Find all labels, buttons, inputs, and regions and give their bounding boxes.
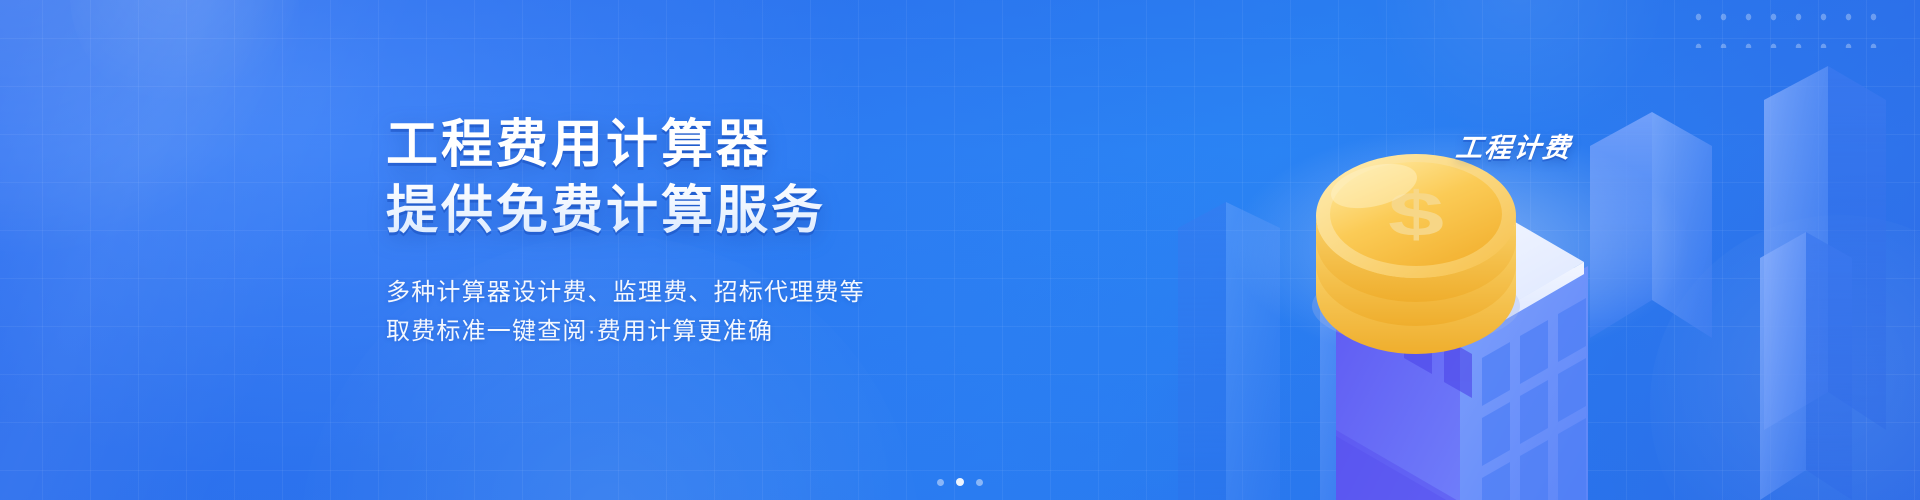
headline-line-2: 提供免费计算服务 [386, 182, 1006, 240]
banner-headline: 工程费用计算器 提供免费计算服务 [386, 116, 1006, 240]
decorative-circle-top-left [0, 0, 300, 260]
decorative-circle-small-top [70, 0, 300, 110]
pagination-dot-3[interactable] [976, 479, 983, 486]
subtitle-line-2: 取费标准一键查阅·费用计算更准确 [386, 313, 1006, 352]
banner-subtitle: 多种计算器设计费、监理费、招标代理费等 取费标准一键查阅·费用计算更准确 [386, 274, 1006, 352]
carousel-pagination[interactable] [937, 478, 983, 486]
illustration-badge-label: 工程计费 [1454, 126, 1574, 165]
banner-illustration: $ 工程计费 [1160, 0, 1920, 500]
subtitle-line-1: 多种计算器设计费、监理费、招标代理费等 [386, 274, 1006, 313]
pagination-dot-2[interactable] [956, 478, 964, 486]
decorative-light-streak [0, 0, 429, 500]
headline-line-1: 工程费用计算器 [386, 116, 771, 174]
banner-copy-block: 工程费用计算器 提供免费计算服务 多种计算器设计费、监理费、招标代理费等 取费标… [386, 116, 1006, 352]
promo-banner: $ 工程计费 工程费用计算器 提供免费计算服务 多种计算器设计费、监理费、招标代… [0, 0, 1920, 500]
pagination-dot-1[interactable] [937, 479, 944, 486]
